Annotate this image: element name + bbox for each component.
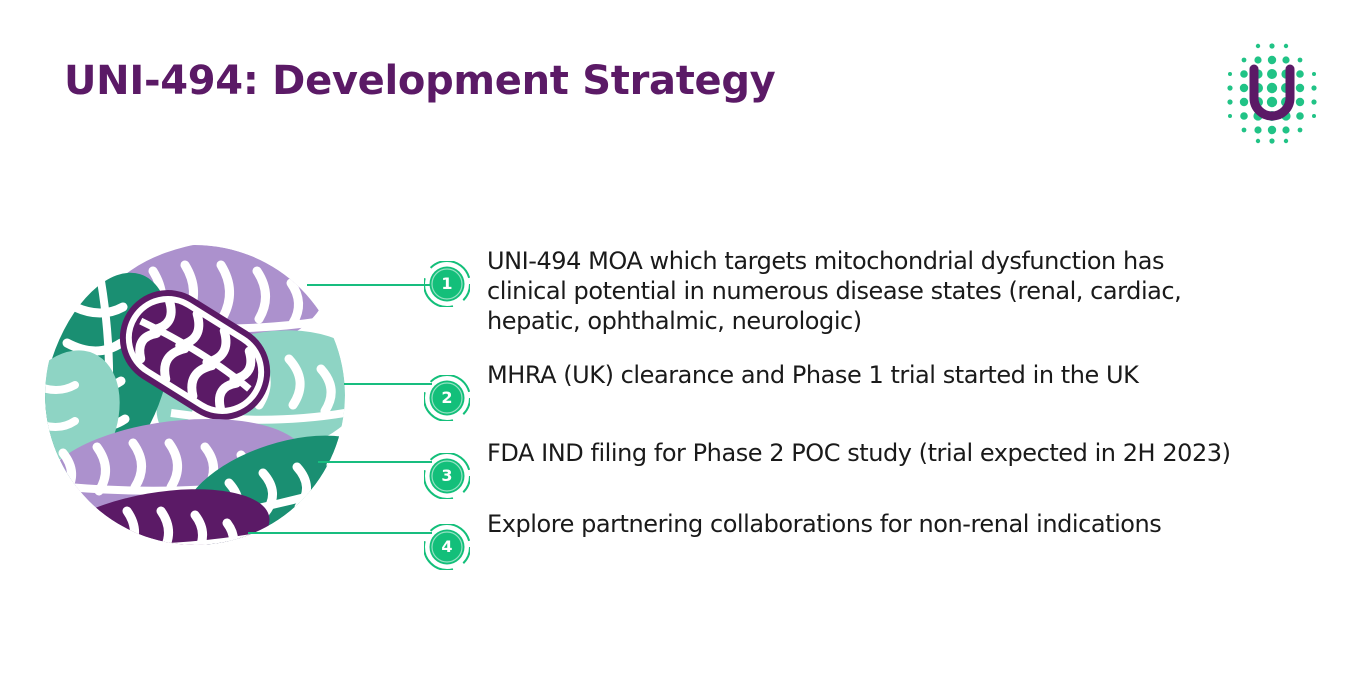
bullet-marker-number: 3 (424, 453, 470, 499)
connector-line-4 (248, 532, 432, 534)
bullet-marker-3: 3 (424, 453, 470, 499)
connector-line-3 (318, 461, 432, 463)
page-title: UNI-494: Development Strategy (64, 58, 775, 104)
bullet-marker-number: 1 (424, 261, 470, 307)
mitochondria-circle-illustration (45, 245, 345, 545)
bullet-item-1: 1 UNI-494 MOA which targets mitochondria… (424, 246, 1181, 336)
bullet-item-3: 3 FDA IND filing for Phase 2 POC study (… (424, 438, 1231, 499)
brand-logo (1216, 36, 1328, 148)
bullet-text-1: UNI-494 MOA which targets mitochondrial … (487, 246, 1181, 336)
bullet-text-4: Explore partnering collaborations for no… (487, 509, 1161, 539)
bullet-marker-4: 4 (424, 524, 470, 570)
connector-line-1 (307, 284, 432, 286)
bullet-text-3: FDA IND filing for Phase 2 POC study (tr… (487, 438, 1231, 468)
bullet-marker-2: 2 (424, 375, 470, 421)
logo-dot-matrix (1227, 43, 1316, 143)
bullet-text-2: MHRA (UK) clearance and Phase 1 trial st… (487, 360, 1138, 390)
bullet-marker-number: 4 (424, 524, 470, 570)
bullet-marker-1: 1 (424, 261, 470, 307)
bullet-item-2: 2 MHRA (UK) clearance and Phase 1 trial … (424, 360, 1138, 421)
bullet-item-4: 4 Explore partnering collaborations for … (424, 509, 1161, 570)
bullet-marker-number: 2 (424, 375, 470, 421)
connector-line-2 (344, 383, 432, 385)
